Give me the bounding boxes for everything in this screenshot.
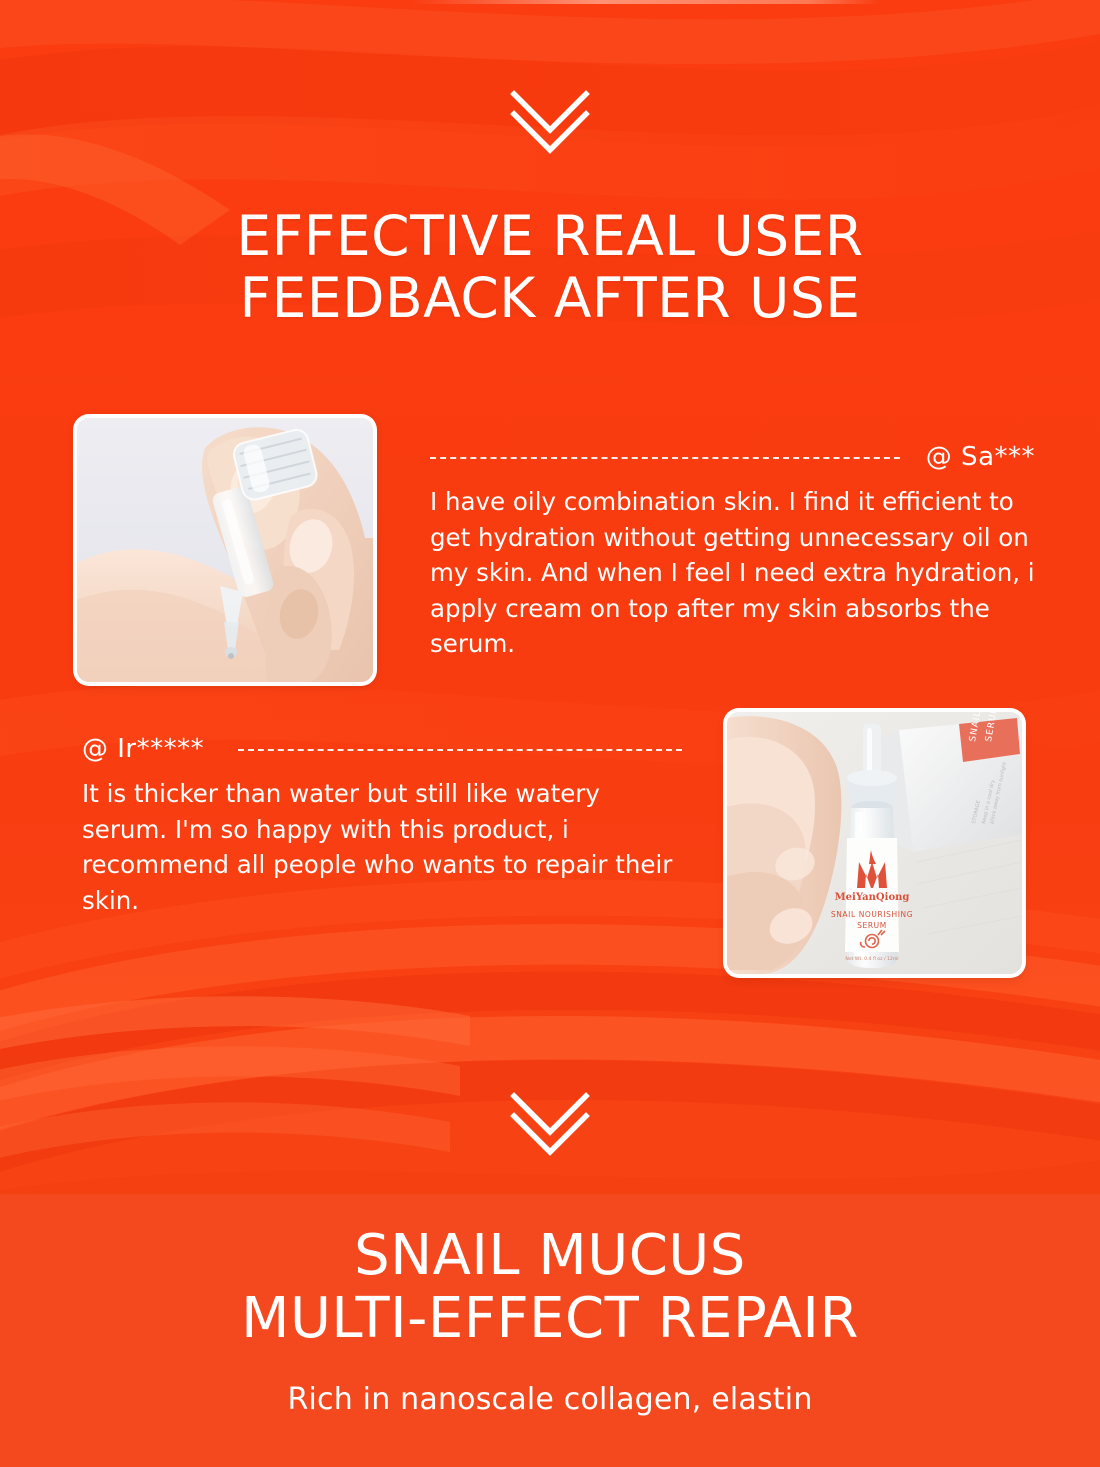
review-photo-applicator	[77, 418, 373, 682]
review-card-1: @ Sa*** I have oily combination skin. I …	[430, 438, 1035, 662]
headline-line-1: EFFECTIVE REAL USER	[236, 204, 863, 268]
svg-text:SNAIL NOURISHING: SNAIL NOURISHING	[831, 910, 913, 919]
svg-text:SERUM: SERUM	[857, 921, 887, 930]
product-title-line-2: MULTI-EFFECT REPAIR	[0, 1288, 1100, 1351]
review-2-dashed-rule	[238, 749, 682, 751]
headline-line-2: FEEDBACK AFTER USE	[0, 268, 1100, 330]
svg-text:Net Wt. 0.4 fl oz / 12ml: Net Wt. 0.4 fl oz / 12ml	[845, 956, 898, 962]
product-title: SNAIL MUCUS MULTI-EFFECT REPAIR	[0, 1225, 1100, 1350]
review-2-handle: @ Ir*****	[82, 734, 204, 764]
product-title-line-1: SNAIL MUCUS	[354, 1223, 746, 1288]
bottle-photo-illustration: SNAIL SERUM STORAGE Keep in a cool dry p…	[727, 712, 1022, 974]
review-1-dashed-rule	[430, 457, 900, 459]
top-edge-sheen	[410, 0, 880, 4]
svg-text:MeiYanQiong: MeiYanQiong	[835, 892, 910, 903]
review-1-handle: @ Sa***	[926, 442, 1035, 472]
review-1-body: I have oily combination skin. I find it …	[430, 484, 1035, 662]
feedback-headline: EFFECTIVE REAL USER FEEDBACK AFTER USE	[0, 206, 1100, 329]
double-chevron-down-icon-bottom	[508, 1090, 592, 1156]
review-card-2: @ Ir***** It is thicker than water but s…	[82, 730, 682, 918]
product-feedback-page: EFFECTIVE REAL USER FEEDBACK AFTER USE	[0, 0, 1100, 1467]
product-subtitle: Rich in nanoscale collagen, elastin	[0, 1382, 1100, 1417]
review-2-body: It is thicker than water but still like …	[82, 776, 682, 918]
review-photo-bottle: SNAIL SERUM STORAGE Keep in a cool dry p…	[727, 712, 1022, 974]
double-chevron-down-icon	[508, 88, 592, 154]
review-1-header: @ Sa***	[430, 438, 1035, 476]
applicator-photo-illustration	[77, 418, 373, 682]
review-2-header: @ Ir*****	[82, 730, 682, 768]
